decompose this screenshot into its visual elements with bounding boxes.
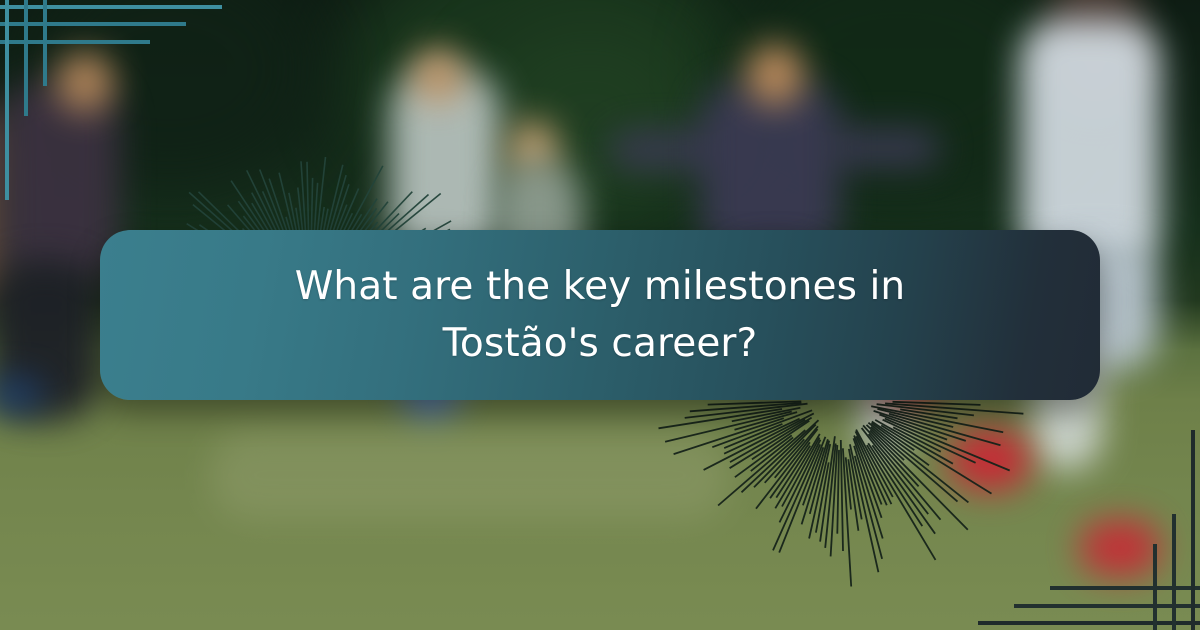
player-head xyxy=(412,48,464,104)
poster-canvas: What are the key milestones in Tostão's … xyxy=(0,0,1200,630)
player-head xyxy=(746,44,804,106)
player-shoe xyxy=(1080,520,1160,576)
player-head xyxy=(56,52,114,112)
question-text: What are the key milestones in Tostão's … xyxy=(250,258,950,372)
player-shoe xyxy=(0,378,44,412)
question-card: What are the key milestones in Tostão's … xyxy=(100,230,1100,400)
field-highlight xyxy=(210,430,730,520)
player-shoe xyxy=(950,430,1030,490)
